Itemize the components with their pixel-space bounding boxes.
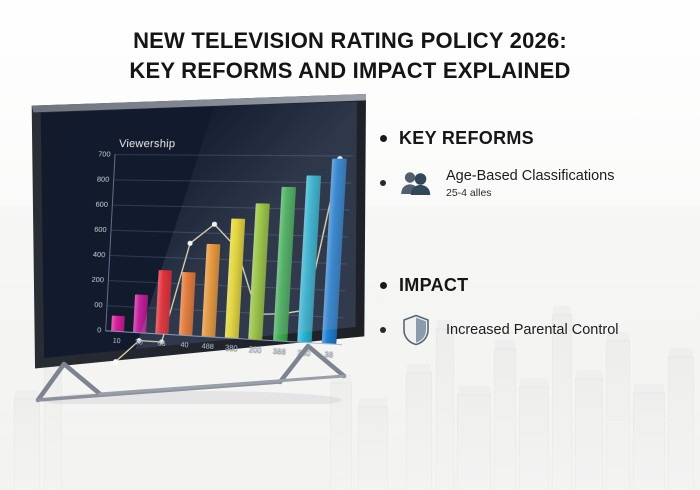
section-title: KEY REFORMS — [399, 128, 534, 149]
section-title: IMPACT — [399, 275, 468, 296]
viewership-bar-chart: Viewership 70080060060040020000010306540… — [78, 140, 356, 373]
y-axis-tick-label: 800 — [97, 175, 110, 184]
section-heading-row: IMPACT — [380, 275, 680, 296]
page-title: NEW TELEVISION RATING POLICY 2026: KEY R… — [0, 26, 700, 86]
sub-item-subtext: 25-4 alles — [446, 187, 614, 199]
x-axis-tick-label: 65 — [157, 341, 165, 349]
x-axis-tick-label: 38 — [324, 351, 333, 359]
section-key-reforms: KEY REFORMS Age-Based Classifications 25… — [380, 128, 680, 199]
y-axis-tick-label: 200 — [91, 275, 104, 285]
x-axis-tick-label: 10 — [113, 338, 121, 346]
y-axis-tick-label: 700 — [98, 150, 111, 159]
title-line-1: NEW TELEVISION RATING POLICY 2026: — [0, 26, 700, 56]
y-axis-tick-label: 600 — [94, 225, 107, 234]
y-axis-tick-label: 400 — [93, 250, 106, 259]
sub-item-label: Age-Based Classifications — [446, 168, 614, 184]
chart-bar — [133, 294, 148, 333]
y-axis-tick-label: 0 — [97, 325, 102, 334]
chart-plot-area: 7008006006004002000001030654048838020038… — [105, 154, 353, 345]
x-axis-tick-label: 350 — [297, 349, 310, 357]
x-axis-tick-label: 200 — [249, 346, 262, 354]
chart-axis-title: Viewership — [119, 138, 176, 150]
bullet-dot-icon — [380, 327, 386, 333]
y-axis-tick-label: 600 — [95, 200, 108, 209]
sub-item-row: Increased Parental Control — [380, 314, 680, 346]
sub-item-text-block: Age-Based Classifications 25-4 alles — [446, 167, 614, 199]
bullet-dot-icon — [380, 180, 386, 186]
shield-icon — [396, 314, 436, 346]
x-axis-tick-label: 40 — [180, 342, 188, 350]
chart-bar — [111, 316, 125, 332]
section-spacer — [380, 199, 680, 275]
x-axis-tick-label: 380 — [225, 345, 238, 353]
x-axis-tick-label: 388 — [273, 348, 286, 356]
key-points-list: KEY REFORMS Age-Based Classifications 25… — [380, 128, 680, 346]
x-axis-tick-label: 488 — [201, 343, 214, 351]
y-axis-tick-label: 00 — [94, 300, 103, 309]
bullet-dot-icon — [380, 135, 387, 142]
section-impact: IMPACT Increased Parental Control — [380, 275, 680, 346]
x-axis-tick-label: 30 — [135, 339, 143, 347]
people-icon — [396, 170, 436, 196]
television: Viewership 70080060060040020000010306540… — [22, 94, 374, 404]
bullet-dot-icon — [380, 282, 387, 289]
sub-item-row: Age-Based Classifications 25-4 alles — [380, 167, 680, 199]
title-line-2: KEY REFORMS AND IMPACT EXPLAINED — [0, 56, 700, 86]
section-heading-row: KEY REFORMS — [380, 128, 680, 149]
sub-item-label: Increased Parental Control — [446, 321, 619, 339]
